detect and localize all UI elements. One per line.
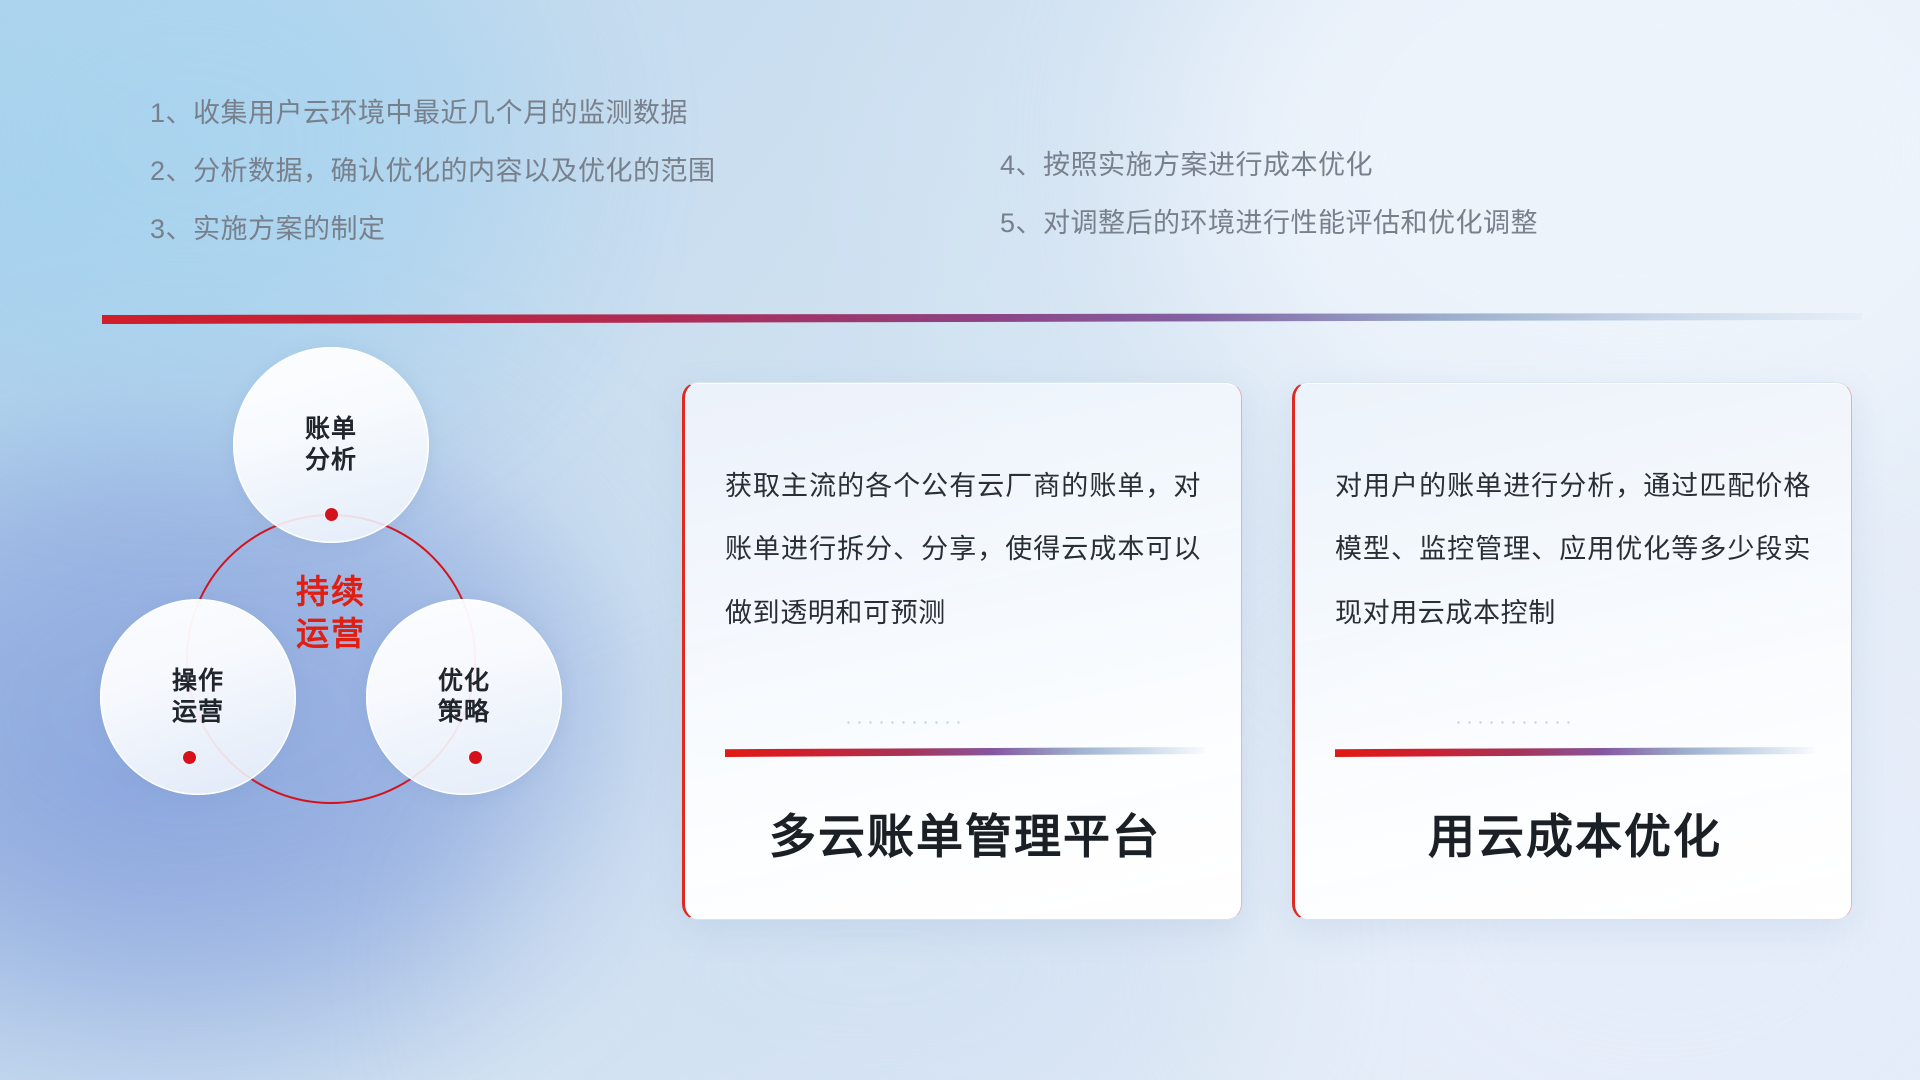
step-item-1: 1、收集用户云环境中最近几个月的监测数据 xyxy=(150,100,716,127)
steps-left-column: 1、收集用户云环境中最近几个月的监测数据 2、分析数据，确认优化的内容以及优化的… xyxy=(150,100,716,274)
card-cloud-cost-optimization[interactable]: 对用户的账单进行分析，通过匹配价格模型、监控管理、应用优化等多少段实现对用云成本… xyxy=(1292,382,1852,920)
bubble-label-line-1: 优化 xyxy=(438,666,490,697)
bubble-label-line-2: 分析 xyxy=(305,445,357,476)
diagram-bubble-optimization-strategy[interactable]: 优化 策略 xyxy=(366,599,562,795)
bubble-label-line-2: 运营 xyxy=(172,697,224,728)
step-item-3: 3、实施方案的制定 xyxy=(150,216,716,243)
slide-canvas: 1、收集用户云环境中最近几个月的监测数据 2、分析数据，确认优化的内容以及优化的… xyxy=(0,0,1920,1080)
bubble-label-line-1: 操作 xyxy=(172,666,224,697)
card-multi-cloud-bill-platform[interactable]: 获取主流的各个公有云厂商的账单，对账单进行拆分、分享，使得云成本可以做到透明和可… xyxy=(682,382,1242,920)
step-item-4: 4、按照实施方案进行成本优化 xyxy=(1000,152,1538,179)
card-gradient-rule xyxy=(1335,747,1815,757)
node-dot-right-icon xyxy=(469,751,482,764)
step-item-2: 2、分析数据，确认优化的内容以及优化的范围 xyxy=(150,158,716,185)
diagram-bubble-operations[interactable]: 操作 运营 xyxy=(100,599,296,795)
step-item-5: 5、对调整后的环境进行性能评估和优化调整 xyxy=(1000,210,1538,237)
steps-right-column: 4、按照实施方案进行成本优化 5、对调整后的环境进行性能评估和优化调整 xyxy=(1000,152,1538,268)
card-dotted-separator xyxy=(1453,721,1573,724)
node-dot-left-icon xyxy=(183,751,196,764)
continuous-operation-diagram: 持续 运营 账单 分析 操作 运营 优化 策略 xyxy=(100,355,620,925)
card-dotted-separator xyxy=(843,721,963,724)
bubble-label-line-2: 策略 xyxy=(438,697,490,728)
card-title: 用云成本优化 xyxy=(1335,798,1815,867)
card-body-text: 获取主流的各个公有云厂商的账单，对账单进行拆分、分享，使得云成本可以做到透明和可… xyxy=(725,455,1201,645)
card-body-text: 对用户的账单进行分析，通过匹配价格模型、监控管理、应用优化等多少段实现对用云成本… xyxy=(1335,455,1811,645)
node-dot-top-icon xyxy=(325,508,338,521)
bubble-label-line-1: 账单 xyxy=(305,414,357,445)
gradient-divider xyxy=(102,313,1862,324)
card-title: 多云账单管理平台 xyxy=(725,798,1205,867)
card-gradient-rule xyxy=(725,747,1205,757)
